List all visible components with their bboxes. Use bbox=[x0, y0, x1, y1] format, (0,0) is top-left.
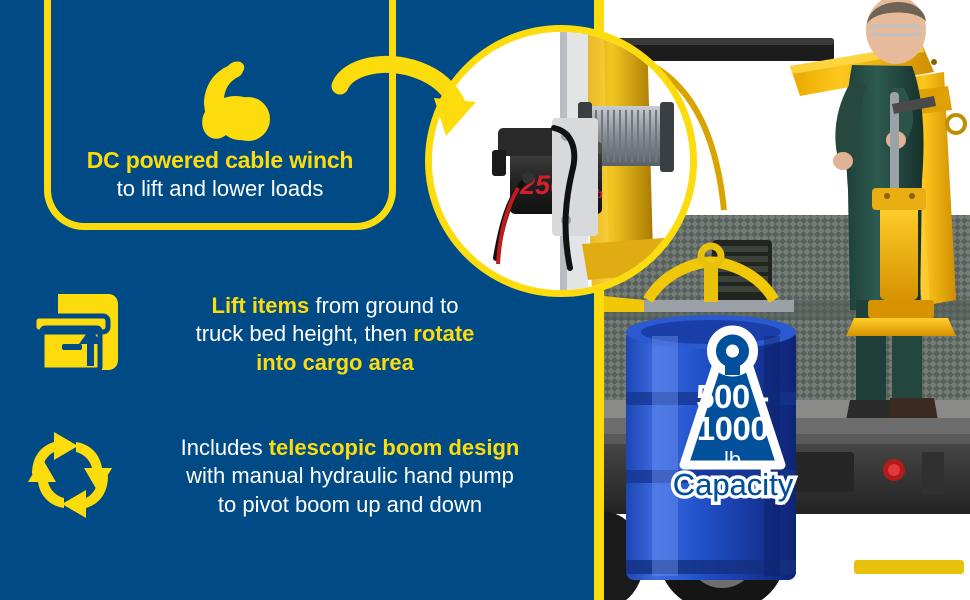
lift-items-reg-1: from ground to bbox=[309, 293, 458, 318]
lift-items-reg-2: truck bed height, then bbox=[196, 321, 414, 346]
box-with-up-arrow-icon bbox=[20, 290, 120, 379]
capacity-badge: 500 - 1000 lb Capacity Capacity bbox=[655, 325, 810, 500]
feature-text-telescopic-boom: Includes telescopic boom design with man… bbox=[120, 434, 580, 520]
infographic-canvas: 2500 lb DC powe bbox=[0, 0, 970, 600]
rotating-arrows-icon bbox=[20, 430, 120, 523]
capacity-label: Capacity bbox=[653, 467, 813, 503]
curved-arrow-icon bbox=[330, 40, 560, 180]
lift-items-bold-3: into cargo area bbox=[256, 350, 414, 375]
boom-reg-3: to pivot boom up and down bbox=[218, 492, 482, 517]
boom-reg-2: with manual hydraulic hand pump bbox=[186, 463, 514, 488]
capacity-amount: 1000 bbox=[697, 410, 768, 447]
lift-items-bold-1: Lift items bbox=[212, 293, 310, 318]
capacity-range: 500 - 1000 bbox=[655, 381, 810, 444]
boom-bold-1: telescopic boom design bbox=[269, 435, 520, 460]
flexed-bicep-icon bbox=[184, 52, 280, 148]
feature-text-lift-items: Lift items from ground to truck bed heig… bbox=[120, 292, 550, 378]
feature-row-telescopic-boom: Includes telescopic boom design with man… bbox=[20, 430, 580, 523]
boom-reg-1: Includes bbox=[181, 435, 269, 460]
lift-items-bold-2: rotate bbox=[413, 321, 474, 346]
feature-row-lift-items: Lift items from ground to truck bed heig… bbox=[20, 290, 550, 379]
